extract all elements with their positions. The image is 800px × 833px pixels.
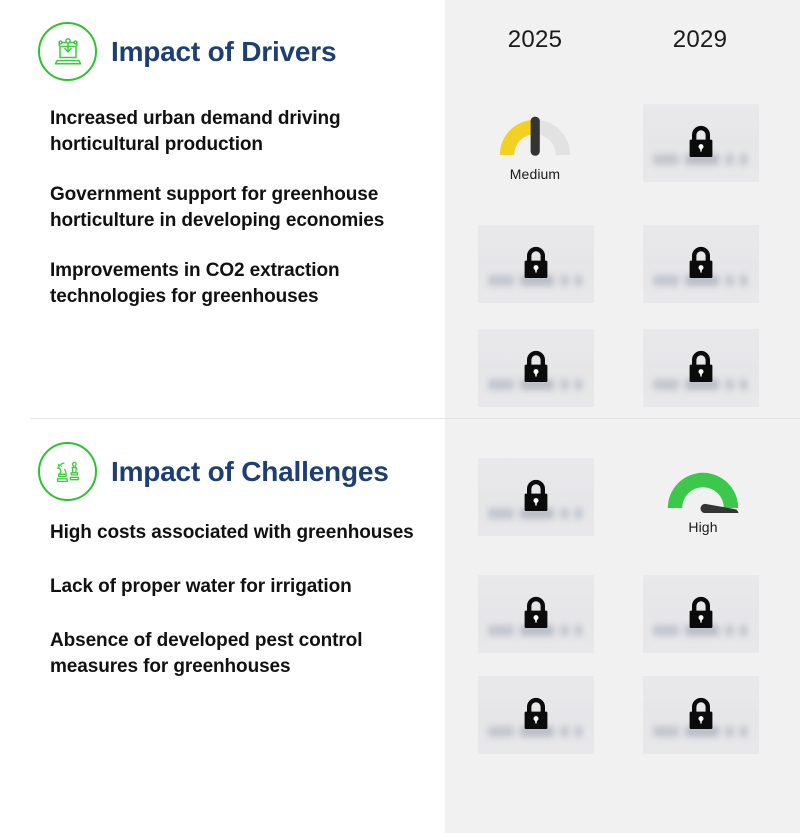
locked-cell-challenges-r0-2025[interactable] <box>478 458 594 536</box>
column-header-2025: 2025 <box>475 26 595 54</box>
list-item: Government support for greenhouse hortic… <box>50 182 430 234</box>
locked-cell-drivers-r1-2029[interactable] <box>643 225 759 303</box>
locked-cell-challenges-r1-2029[interactable] <box>643 575 759 653</box>
section-header-challenges: Impact of Challenges <box>38 442 389 501</box>
padlock-icon <box>684 348 718 386</box>
locked-cell-challenges-r2-2029[interactable] <box>643 676 759 754</box>
locked-cell-challenges-r2-2025[interactable] <box>478 676 594 754</box>
column-header-2029: 2029 <box>640 26 760 54</box>
chess-pieces-icon <box>38 442 97 501</box>
padlock-icon <box>519 244 553 282</box>
padlock-icon <box>684 244 718 282</box>
section-title-challenges: Impact of Challenges <box>111 456 389 488</box>
gauge-value-label: High <box>643 519 763 535</box>
locked-cell-drivers-r2-2025[interactable] <box>478 329 594 407</box>
gauge-drivers-r0-2025[interactable]: Medium <box>475 110 595 182</box>
list-item: Increased urban demand driving horticult… <box>50 106 430 158</box>
gauge-dial-medium <box>495 110 575 160</box>
impact-matrix-page: 2025 2029 Impact of Drivers <box>0 0 800 833</box>
padlock-icon <box>684 123 718 161</box>
list-item: High costs associated with greenhouses <box>50 520 430 546</box>
section-header-drivers: Impact of Drivers <box>38 22 336 81</box>
gauge-dial-high <box>663 463 743 513</box>
gauge-value-label: Medium <box>475 166 595 182</box>
padlock-icon <box>519 594 553 632</box>
locked-cell-challenges-r1-2025[interactable] <box>478 575 594 653</box>
list-item: Absence of developed pest control measur… <box>50 628 430 680</box>
padlock-icon <box>684 695 718 733</box>
locked-cell-drivers-r1-2025[interactable] <box>478 225 594 303</box>
drivers-item-list: Increased urban demand driving horticult… <box>50 106 430 334</box>
padlock-icon <box>519 695 553 733</box>
list-item: Improvements in CO2 extraction technolog… <box>50 258 430 310</box>
section-divider <box>30 418 800 419</box>
locked-cell-drivers-r2-2029[interactable] <box>643 329 759 407</box>
challenges-item-list: High costs associated with greenhouses L… <box>50 520 430 708</box>
padlock-icon <box>519 348 553 386</box>
padlock-icon <box>519 477 553 515</box>
padlock-icon <box>684 594 718 632</box>
gauge-challenges-r0-2029[interactable]: High <box>643 463 763 535</box>
tech-laptop-download-icon <box>38 22 97 81</box>
list-item: Lack of proper water for irrigation <box>50 574 430 600</box>
section-title-drivers: Impact of Drivers <box>111 36 336 68</box>
locked-cell-drivers-r0-2029[interactable] <box>643 104 759 182</box>
